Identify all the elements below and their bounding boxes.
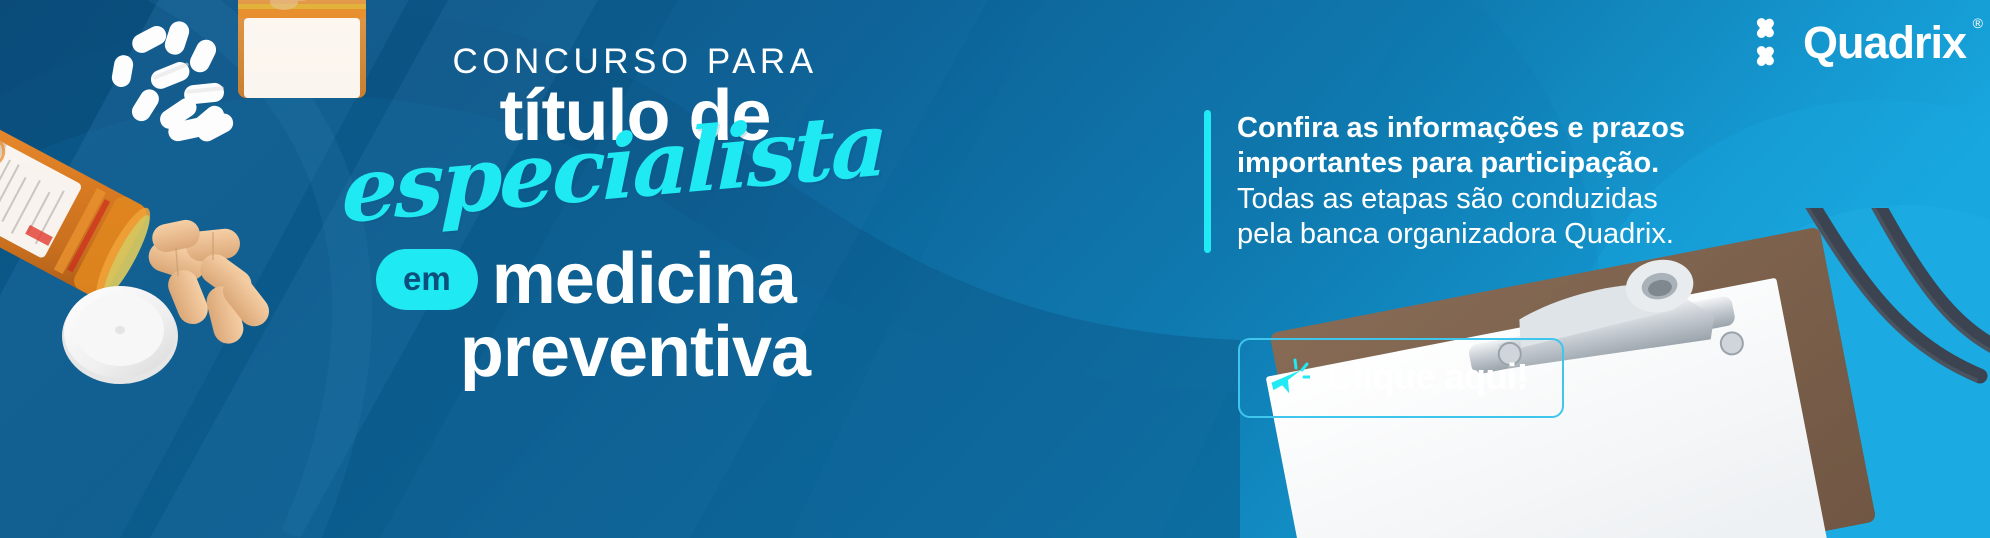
- quadrix-x-mark-icon: [1741, 18, 1789, 66]
- registered-trademark-icon: ®: [1973, 16, 1982, 30]
- copy-regular-line-1: Todas as etapas são conduzidas: [1237, 182, 1685, 217]
- info-copy-block: Confira as informações e prazos importan…: [1204, 110, 1685, 253]
- info-copy-text: Confira as informações e prazos importan…: [1237, 110, 1685, 253]
- headline-pill-em: em: [376, 249, 478, 310]
- headline-script-wrap: especialista: [370, 143, 900, 239]
- headline-kicker: CONCURSO PARA: [370, 44, 900, 79]
- clique-aqui-button[interactable]: Clique aqui!: [1238, 338, 1564, 418]
- headline-line-em-medicina: em medicina: [370, 245, 900, 313]
- quadrix-logo[interactable]: Quadrix ®: [1741, 18, 1966, 66]
- click-cursor-icon: [1266, 355, 1310, 399]
- headline-block: CONCURSO PARA título de especialista em …: [370, 44, 900, 388]
- copy-strong-line-2: importantes para participação.: [1237, 146, 1685, 181]
- accent-bar: [1204, 110, 1211, 253]
- promo-banner: CONCURSO PARA título de especialista em …: [0, 0, 1990, 538]
- copy-regular-line-2: pela banca organizadora Quadrix.: [1237, 217, 1685, 252]
- headline-word-medicina: medicina: [492, 245, 796, 313]
- clique-aqui-label: Clique aqui!: [1328, 359, 1528, 395]
- quadrix-wordmark-text: Quadrix: [1803, 17, 1966, 68]
- quadrix-wordmark: Quadrix ®: [1803, 20, 1966, 65]
- copy-strong-line-1: Confira as informações e prazos: [1237, 111, 1685, 146]
- headline-line-preventiva: preventiva: [370, 316, 900, 388]
